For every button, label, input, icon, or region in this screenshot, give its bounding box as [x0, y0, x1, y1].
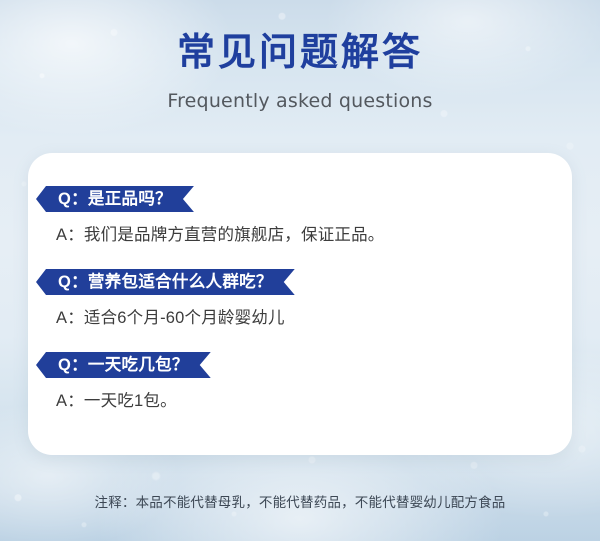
answer-text: A：一天吃1包。	[56, 387, 572, 411]
faq-item: Q：是正品吗？ A：我们是品牌方直营的旗舰店，保证正品。	[28, 186, 572, 245]
faq-item: Q：一天吃几包？ A：一天吃1包。	[28, 352, 572, 411]
faq-card: Q：是正品吗？ A：我们是品牌方直营的旗舰店，保证正品。 Q：营养包适合什么人群…	[28, 153, 572, 455]
page-subtitle: Frequently asked questions	[0, 90, 600, 112]
answer-text: A：适合6个月-60个月龄婴幼儿	[56, 304, 572, 328]
faq-item: Q：营养包适合什么人群吃？ A：适合6个月-60个月龄婴幼儿	[28, 269, 572, 328]
answer-text: A：我们是品牌方直营的旗舰店，保证正品。	[56, 221, 572, 245]
question-badge[interactable]: Q：营养包适合什么人群吃？	[36, 269, 295, 295]
page-title: 常见问题解答	[0, 32, 600, 76]
footer-note: 注释：本品不能代替母乳，不能代替药品，不能代替婴幼儿配方食品	[0, 491, 600, 511]
faq-list: Q：是正品吗？ A：我们是品牌方直营的旗舰店，保证正品。 Q：营养包适合什么人群…	[28, 153, 572, 411]
page-header: 常见问题解答 Frequently asked questions	[0, 0, 600, 112]
question-badge[interactable]: Q：一天吃几包？	[36, 352, 211, 378]
question-badge[interactable]: Q：是正品吗？	[36, 186, 194, 212]
